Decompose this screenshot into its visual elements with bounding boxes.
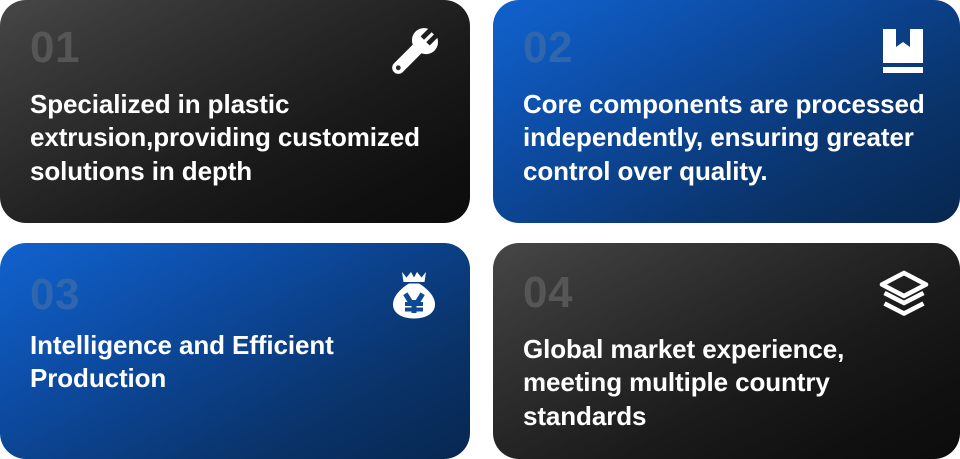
layers-stack-icon <box>876 267 932 323</box>
card-text: Core components are processed independen… <box>523 88 930 188</box>
money-bag-yen-icon <box>386 267 442 323</box>
card-number: 03 <box>30 273 440 317</box>
feature-card-03[interactable]: 03 Intelligence and Efficient Production <box>0 243 470 459</box>
card-number: 02 <box>523 26 930 70</box>
card-number: 04 <box>523 271 930 315</box>
feature-card-02[interactable]: 02 Core components are processed indepen… <box>493 0 960 223</box>
feature-card-grid: 01 Specialized in plastic extrusion,prov… <box>0 0 960 459</box>
book-bookmark-icon <box>876 24 932 80</box>
card-text: Specialized in plastic extrusion,providi… <box>30 88 440 188</box>
feature-card-04[interactable]: 04 Global market experience, meeting mul… <box>493 243 960 459</box>
wrench-icon <box>386 24 442 80</box>
card-text: Intelligence and Efficient Production <box>30 329 440 396</box>
feature-card-01[interactable]: 01 Specialized in plastic extrusion,prov… <box>0 0 470 223</box>
card-text: Global market experience, meeting multip… <box>523 333 883 433</box>
card-number: 01 <box>30 26 440 70</box>
